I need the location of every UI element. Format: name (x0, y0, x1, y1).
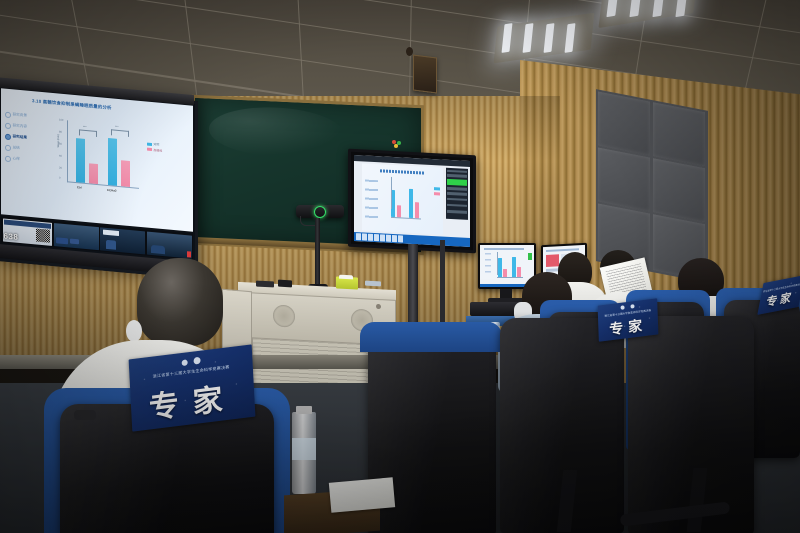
tv-panel-row (447, 170, 467, 174)
chart-ytick: 40 (59, 155, 62, 158)
slide-nav-label: 研究内容 (13, 123, 27, 129)
vc-tile-remote-1[interactable] (54, 223, 99, 250)
plate-logo-icon (630, 304, 634, 309)
tv-mirrored-slide (362, 163, 443, 234)
slide-nav-label: 研究背景 (13, 112, 27, 118)
speaker-mount-bracket (406, 47, 413, 56)
legend-swatch-highsugar (147, 148, 152, 151)
tv-panel-row (447, 197, 467, 201)
chalkboard-glare (209, 104, 345, 159)
tv-panel-row (447, 174, 467, 178)
chart-legend-item: 对照 (147, 142, 162, 147)
name-plate-expert-1: 浙江省第十三届大学生生命科学竞赛决赛 专家 (129, 344, 256, 431)
bottle-cap[interactable] (296, 406, 312, 414)
clock-icon (5, 111, 11, 118)
taskbar-icon[interactable] (398, 235, 403, 242)
tv-chart-bar (415, 202, 419, 218)
tv-panel-row (447, 192, 467, 196)
camera-stand-pole (315, 218, 320, 290)
book-icon (5, 122, 11, 129)
chart-legend-item: 高糖组 (147, 147, 162, 152)
monitor-chart-bar (498, 258, 502, 277)
vc-room-number-tile: 638 (3, 218, 53, 246)
slide-bar-chart: 100 80 60 40 20 0 Sleep (min) *** Ctrl *… (67, 120, 139, 189)
list-icon (5, 144, 11, 151)
slide-nav-label: 研究结果 (13, 134, 27, 140)
taskbar-icon[interactable] (368, 234, 373, 241)
bottle-label (292, 438, 316, 460)
acoustic-panel (653, 102, 705, 166)
chart-ytick: 20 (59, 167, 62, 170)
tissue-sheet (339, 275, 353, 280)
person-head-front-left (137, 258, 223, 346)
tv-panel-highlight-row (447, 179, 467, 186)
taskbar-icon[interactable] (362, 233, 367, 240)
taskbar-icon[interactable] (356, 233, 361, 240)
qr-code-icon (36, 228, 50, 242)
chair-adjust-knob[interactable] (74, 410, 96, 420)
monitor-chart-bar (517, 267, 521, 278)
legend-swatch-control (147, 142, 152, 145)
taskbar-icon[interactable] (386, 235, 391, 242)
chart-significance-bracket (111, 129, 129, 137)
wall-speaker (413, 55, 437, 94)
presentation-slide: 3.10 高糖饮食抑制果蝇睡眠质量的分析 研究背景 研究内容 研究结果 总结 (1, 88, 193, 231)
chart-legend: 对照 高糖组 (147, 142, 162, 155)
name-plate-expert-2: 浙江省第十三届大学生生命科学竞赛决赛 专家 (598, 298, 659, 341)
chart-bar-ccha2-highsugar (121, 161, 130, 188)
legend-label: 对照 (153, 142, 159, 147)
slide-nav-item-4[interactable]: 心得 (5, 153, 31, 166)
heart-icon (5, 155, 11, 162)
vc-tile-remote-2[interactable] (100, 227, 145, 254)
tv-panel-row (447, 210, 467, 214)
tv-panel-row (447, 204, 467, 208)
acoustic-panel (653, 158, 705, 222)
projection-screen: 3.10 高糖饮食抑制果蝇睡眠质量的分析 研究背景 研究内容 研究结果 总结 (0, 83, 198, 279)
chart-ytick: 80 (59, 131, 62, 134)
lectern-lock[interactable] (376, 304, 381, 309)
plate-logo-icon (181, 359, 187, 366)
conference-room-photo: 3.10 高糖饮食抑制果蝇睡眠质量的分析 研究背景 研究内容 研究结果 总结 (0, 0, 800, 533)
desk-keyboard-device[interactable] (278, 280, 292, 288)
desk-remote-control[interactable] (256, 281, 274, 288)
chart-y-axis-label: Sleep (min) (57, 134, 60, 148)
tv-chart-bar (409, 188, 413, 218)
chart-ytick: 100 (59, 119, 63, 122)
taskbar-icon[interactable] (392, 235, 397, 242)
desk-document (365, 281, 381, 287)
tv-side-control-panel[interactable] (446, 168, 468, 221)
taskbar-icon[interactable] (374, 234, 379, 241)
board-magnet (394, 144, 398, 148)
plate-logo-icon (621, 305, 625, 310)
chart-bar-ccha2-control (108, 138, 117, 186)
slide-title: 3.10 高糖饮食抑制果蝇睡眠质量的分析 (32, 98, 112, 111)
monitor-chart-bar (512, 257, 516, 278)
chart-y-axis (67, 120, 68, 182)
operator-monitor-left-screen (480, 245, 534, 287)
legend-label: 高糖组 (153, 148, 162, 153)
chart-xtick: CCHa2 (107, 188, 116, 193)
acoustic-panel (598, 92, 650, 156)
taskbar-icon[interactable] (380, 234, 385, 241)
flask-icon (5, 133, 11, 140)
tv-panel-row (447, 187, 467, 191)
acoustic-panel (598, 148, 650, 212)
tv-chart-bar (397, 205, 401, 217)
document-on-table (329, 477, 395, 512)
tv-screen (354, 155, 470, 247)
wall-mounted-tv (348, 149, 476, 254)
slide-nav-label: 心得 (13, 156, 20, 162)
vc-tile-remote-3[interactable] (147, 231, 192, 258)
chart-bar-ctrl-control (76, 138, 85, 183)
chart-xtick: Ctrl (77, 185, 82, 189)
cable-run (440, 240, 445, 330)
tv-chart-bar (391, 190, 395, 217)
slide-navigation: 研究背景 研究内容 研究结果 总结 心得 (5, 109, 31, 166)
plate-logo-icon (193, 357, 200, 365)
tv-slide-title (380, 169, 425, 174)
face-mask-front-left (126, 320, 142, 342)
vc-room-number: 638 (4, 231, 19, 241)
tv-mount-pole (408, 244, 418, 330)
chart-significance-bracket (79, 129, 97, 137)
chart-significance-label: *** (115, 125, 119, 129)
lectern-speaker-grille (273, 304, 295, 327)
chair-frame-foreground-right[interactable] (360, 322, 502, 352)
chart-ytick: 0 (59, 177, 60, 180)
tv-slide-nav (365, 179, 378, 219)
chart-significance-label: *** (83, 125, 87, 129)
slide-nav-label: 总结 (13, 145, 20, 151)
chart-bar-ctrl-highsugar (89, 164, 98, 185)
